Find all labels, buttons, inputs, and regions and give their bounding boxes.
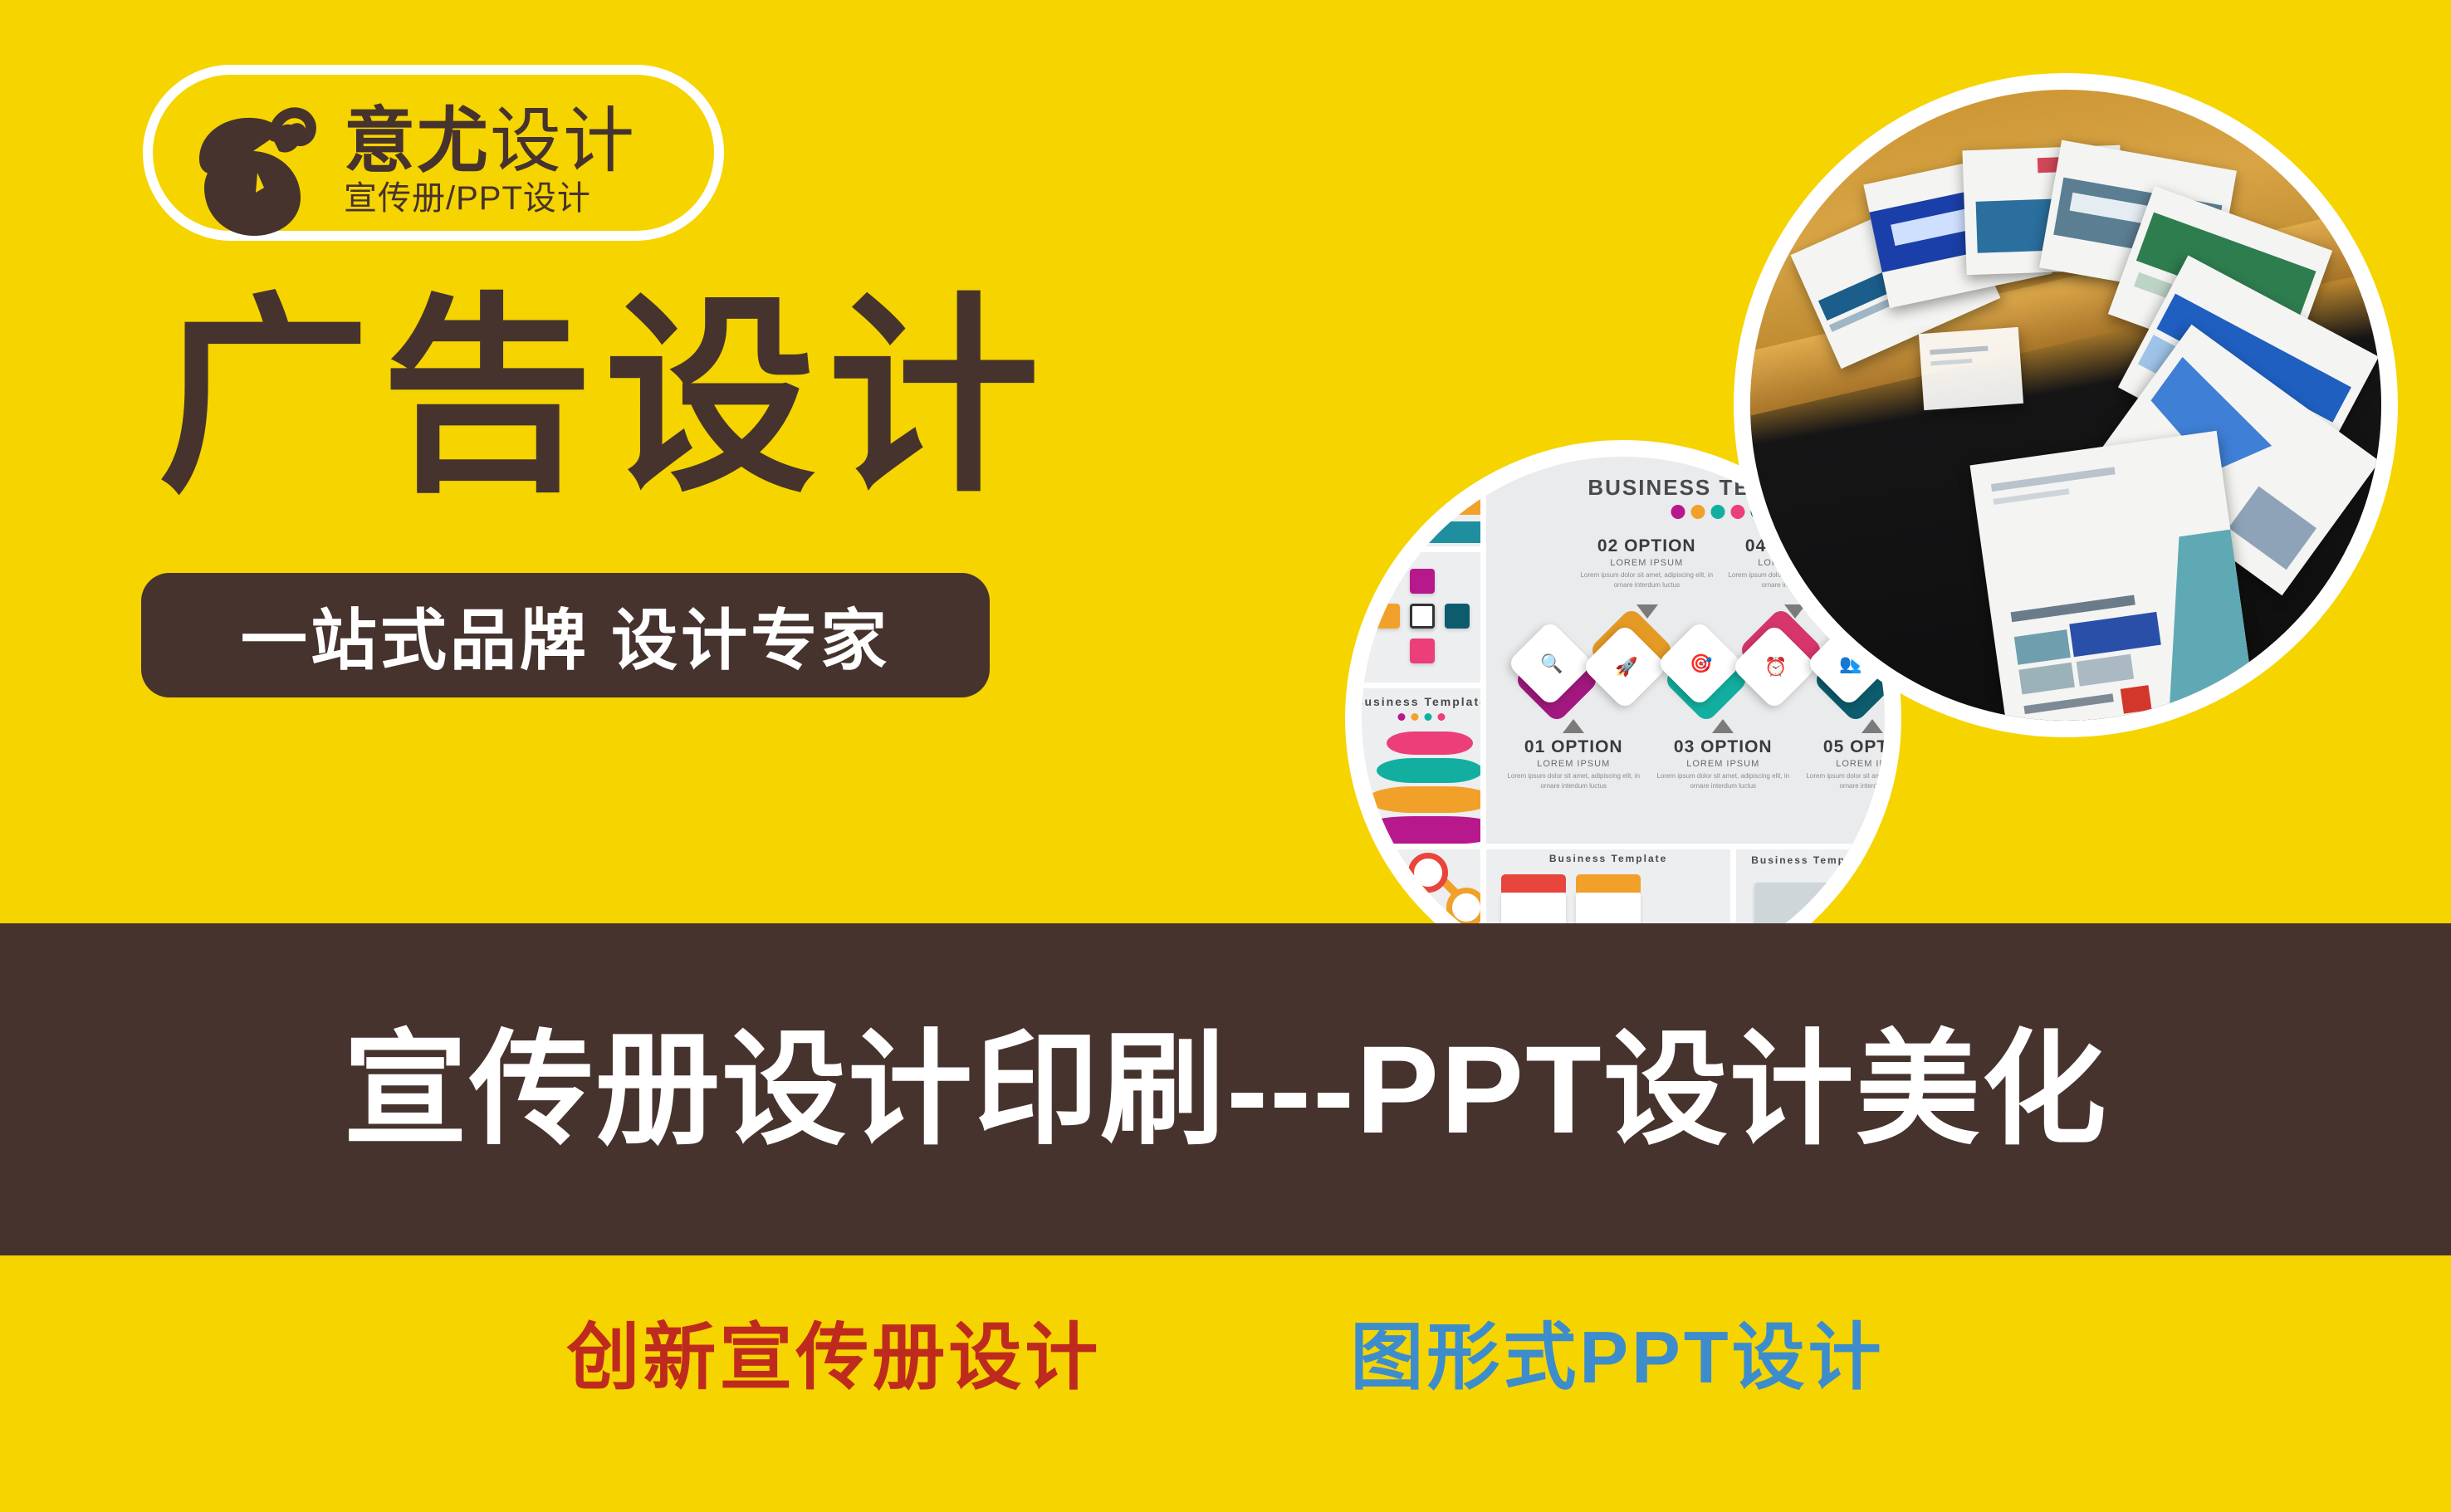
subtitle-pill-label: 一站式品牌 设计专家 [241,587,890,683]
printed-brochures-photo-circle [1734,73,2398,737]
banner-text: 宣传册设计印刷---PPT设计美化 [343,1027,2108,1152]
poster-canvas: 意尤设计 宣传册/PPT设计 广告设计 一站式品牌 设计专家 [0,0,2451,1512]
logo-tagline: 宣传册/PPT设计 [344,181,726,216]
logo-brand: 意尤设计 [344,106,726,176]
option-label-03: 03 OPTION LOREM IPSUM Lorem ipsum dolor … [1652,737,1793,791]
footer-row: 创新宣传册设计 图形式PPT设计 [0,1295,2451,1420]
main-banner: 宣传册设计印刷---PPT设计美化 [0,923,2451,1255]
business-card-holder [1919,327,2023,410]
footer-item-brochure[interactable]: 创新宣传册设计 [566,1321,1101,1394]
page-title: 广告设计 [158,292,1051,504]
logo-badge[interactable]: 意尤设计 宣传册/PPT设计 [143,65,724,241]
collage-cell-pyramid: Business Template [1362,688,1480,844]
option-label-02: 02 OPTION LOREM IPSUM Lorem ipsum dolor … [1576,536,1717,590]
collage-cell-cross-diagram [1362,552,1480,683]
yiyou-seed-logo-icon [176,83,334,241]
footer-item-ppt[interactable]: 图形式PPT设计 [1350,1321,1884,1394]
option-label-05: 05 OPTION LOREM IPSUM Lorem ipsum dolor … [1802,737,1885,791]
option-label-01: 01 OPTION LOREM IPSUM Lorem ipsum dolor … [1503,737,1644,791]
brochure-front-cover [1969,431,2254,721]
subtitle-pill: 一站式品牌 设计专家 [141,573,990,697]
collage-cell-ribbons [1362,457,1480,546]
